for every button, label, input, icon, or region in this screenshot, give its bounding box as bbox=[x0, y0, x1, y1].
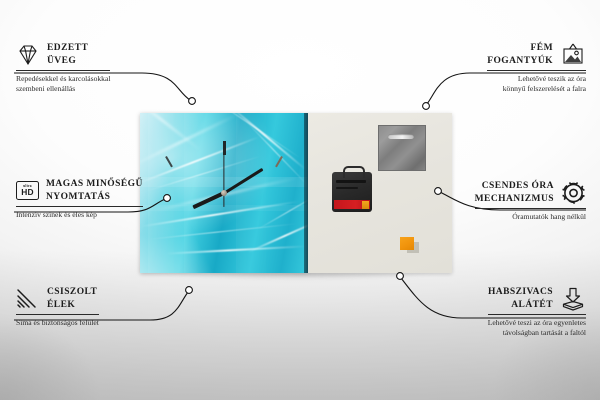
callout-divider bbox=[16, 314, 99, 315]
callout-title: FÉM FOGANTYÚK bbox=[487, 42, 553, 67]
polished-edges-icon bbox=[16, 288, 40, 309]
connector-dot-metal-handles bbox=[423, 103, 430, 110]
callout-desc-line1: Lehetővé teszik az óra bbox=[487, 74, 586, 84]
ultra-hd-icon: ultra HD bbox=[16, 181, 39, 200]
callout-header: FÉM FOGANTYÚK bbox=[487, 42, 586, 67]
callout-polished-edges[interactable]: CSISZOLT ÉLEK Sima és biztonságos felüle… bbox=[16, 286, 99, 328]
callout-title: EDZETT ÜVEG bbox=[47, 42, 88, 67]
clock-front-panel bbox=[140, 113, 308, 273]
callout-description: Repedésekkel és karcolásokkal szembeni e… bbox=[16, 74, 110, 94]
callout-divider bbox=[16, 206, 143, 207]
mechanism-label-badge bbox=[362, 201, 369, 209]
product-drop-shadow bbox=[146, 272, 452, 282]
clock-back-panel bbox=[308, 113, 452, 273]
callout-desc-line1: Intenzív színek és éles kép bbox=[16, 210, 143, 220]
callout-title-line2: ÉLEK bbox=[47, 299, 97, 312]
clock-minute-hand bbox=[223, 168, 263, 194]
callout-title: CSISZOLT ÉLEK bbox=[47, 286, 97, 311]
callout-desc-line1: Sima és biztonságos felület bbox=[16, 318, 99, 328]
mechanism-vent-1 bbox=[336, 180, 366, 183]
connector-dot-polished-edges bbox=[186, 287, 193, 294]
callout-desc-line1: Lehetővé teszi az óra egyenletes bbox=[488, 318, 586, 328]
callout-metal-handles[interactable]: FÉM FOGANTYÚK Lehetővé teszik az óra kön… bbox=[487, 42, 586, 94]
callout-title: MAGAS MINŐSÉGŰ NYOMTATÁS bbox=[46, 178, 143, 203]
callout-title-line2: ÜVEG bbox=[47, 55, 88, 68]
callout-high-quality-print[interactable]: ultra HD MAGAS MINŐSÉGŰ NYOMTATÁS Intenz… bbox=[16, 178, 143, 220]
callout-title: CSENDES ÓRA MECHANIZMUS bbox=[475, 180, 554, 205]
callout-desc-line2: könnyű felszerelését a falra bbox=[487, 84, 586, 94]
callout-silent-mechanism[interactable]: CSENDES ÓRA MECHANIZMUS Óramutatók hang … bbox=[475, 180, 586, 222]
callout-desc-line2: távolságban tartását a faltól bbox=[488, 328, 586, 338]
hanger-slot bbox=[388, 134, 414, 139]
callout-divider bbox=[488, 314, 586, 315]
clock-center-cap bbox=[221, 190, 227, 196]
callout-description: Óramutatók hang nélkül bbox=[475, 212, 586, 222]
mechanism-red-label bbox=[334, 200, 370, 209]
callout-divider bbox=[16, 70, 110, 71]
callout-desc-line1: Repedésekkel és karcolásokkal bbox=[16, 74, 110, 84]
callout-title: HABSZIVACS ALÁTÉT bbox=[488, 286, 553, 311]
callout-title-line1: CSISZOLT bbox=[47, 286, 97, 299]
callout-description: Sima és biztonságos felület bbox=[16, 318, 99, 328]
clock-face bbox=[140, 113, 308, 273]
callout-desc-line1: Óramutatók hang nélkül bbox=[475, 212, 586, 222]
callout-description: Lehetővé teszik az óra könnyű felszerelé… bbox=[487, 74, 586, 94]
callout-title-line2: NYOMTATÁS bbox=[46, 191, 143, 204]
callout-header: CSENDES ÓRA MECHANIZMUS bbox=[475, 180, 586, 205]
metal-hanger-plate bbox=[378, 125, 426, 171]
callout-description: Intenzív színek és éles kép bbox=[16, 210, 143, 220]
clock-mechanism-box bbox=[332, 172, 372, 212]
picture-hanger-icon bbox=[560, 43, 586, 66]
callout-header: ultra HD MAGAS MINŐSÉGŰ NYOMTATÁS bbox=[16, 178, 143, 203]
gear-icon bbox=[561, 181, 586, 205]
foam-pad-icon bbox=[560, 287, 586, 311]
callout-header: HABSZIVACS ALÁTÉT bbox=[488, 286, 586, 311]
callout-divider bbox=[487, 70, 586, 71]
product-image bbox=[140, 113, 452, 273]
connector-dot-tempered-glass bbox=[189, 98, 196, 105]
callout-desc-line2: szembeni ellenállás bbox=[16, 84, 110, 94]
clock-second-hand bbox=[223, 151, 224, 207]
callout-header: EDZETT ÜVEG bbox=[16, 42, 110, 67]
callout-divider bbox=[475, 208, 586, 209]
callout-title-line2: ALÁTÉT bbox=[488, 299, 553, 312]
callout-title-line1: HABSZIVACS bbox=[488, 286, 553, 299]
callout-title-line1: MAGAS MINŐSÉGŰ bbox=[46, 178, 143, 191]
diamond-icon bbox=[16, 44, 40, 66]
callout-title-line2: FOGANTYÚK bbox=[487, 55, 553, 68]
callout-description: Lehetővé teszi az óra egyenletes távolsá… bbox=[488, 318, 586, 338]
callout-title-line2: MECHANIZMUS bbox=[475, 193, 554, 206]
callout-title-line1: CSENDES ÓRA bbox=[475, 180, 554, 193]
callout-tempered-glass[interactable]: EDZETT ÜVEG Repedésekkel és karcolásokka… bbox=[16, 42, 110, 94]
callout-header: CSISZOLT ÉLEK bbox=[16, 286, 99, 311]
callout-title-line1: EDZETT bbox=[47, 42, 88, 55]
ultra-hd-icon-main-text: HD bbox=[21, 188, 34, 196]
clock-hour-hand bbox=[192, 191, 225, 209]
callout-title-line1: FÉM bbox=[487, 42, 553, 55]
callout-foam-pad[interactable]: HABSZIVACS ALÁTÉT Lehetővé teszi az óra … bbox=[488, 286, 586, 338]
infographic-canvas: EDZETT ÜVEG Repedésekkel és karcolásokka… bbox=[0, 0, 600, 400]
mechanism-vent-2 bbox=[336, 187, 358, 189]
foam-pad-sample bbox=[400, 237, 414, 250]
mechanism-handle bbox=[343, 166, 365, 178]
